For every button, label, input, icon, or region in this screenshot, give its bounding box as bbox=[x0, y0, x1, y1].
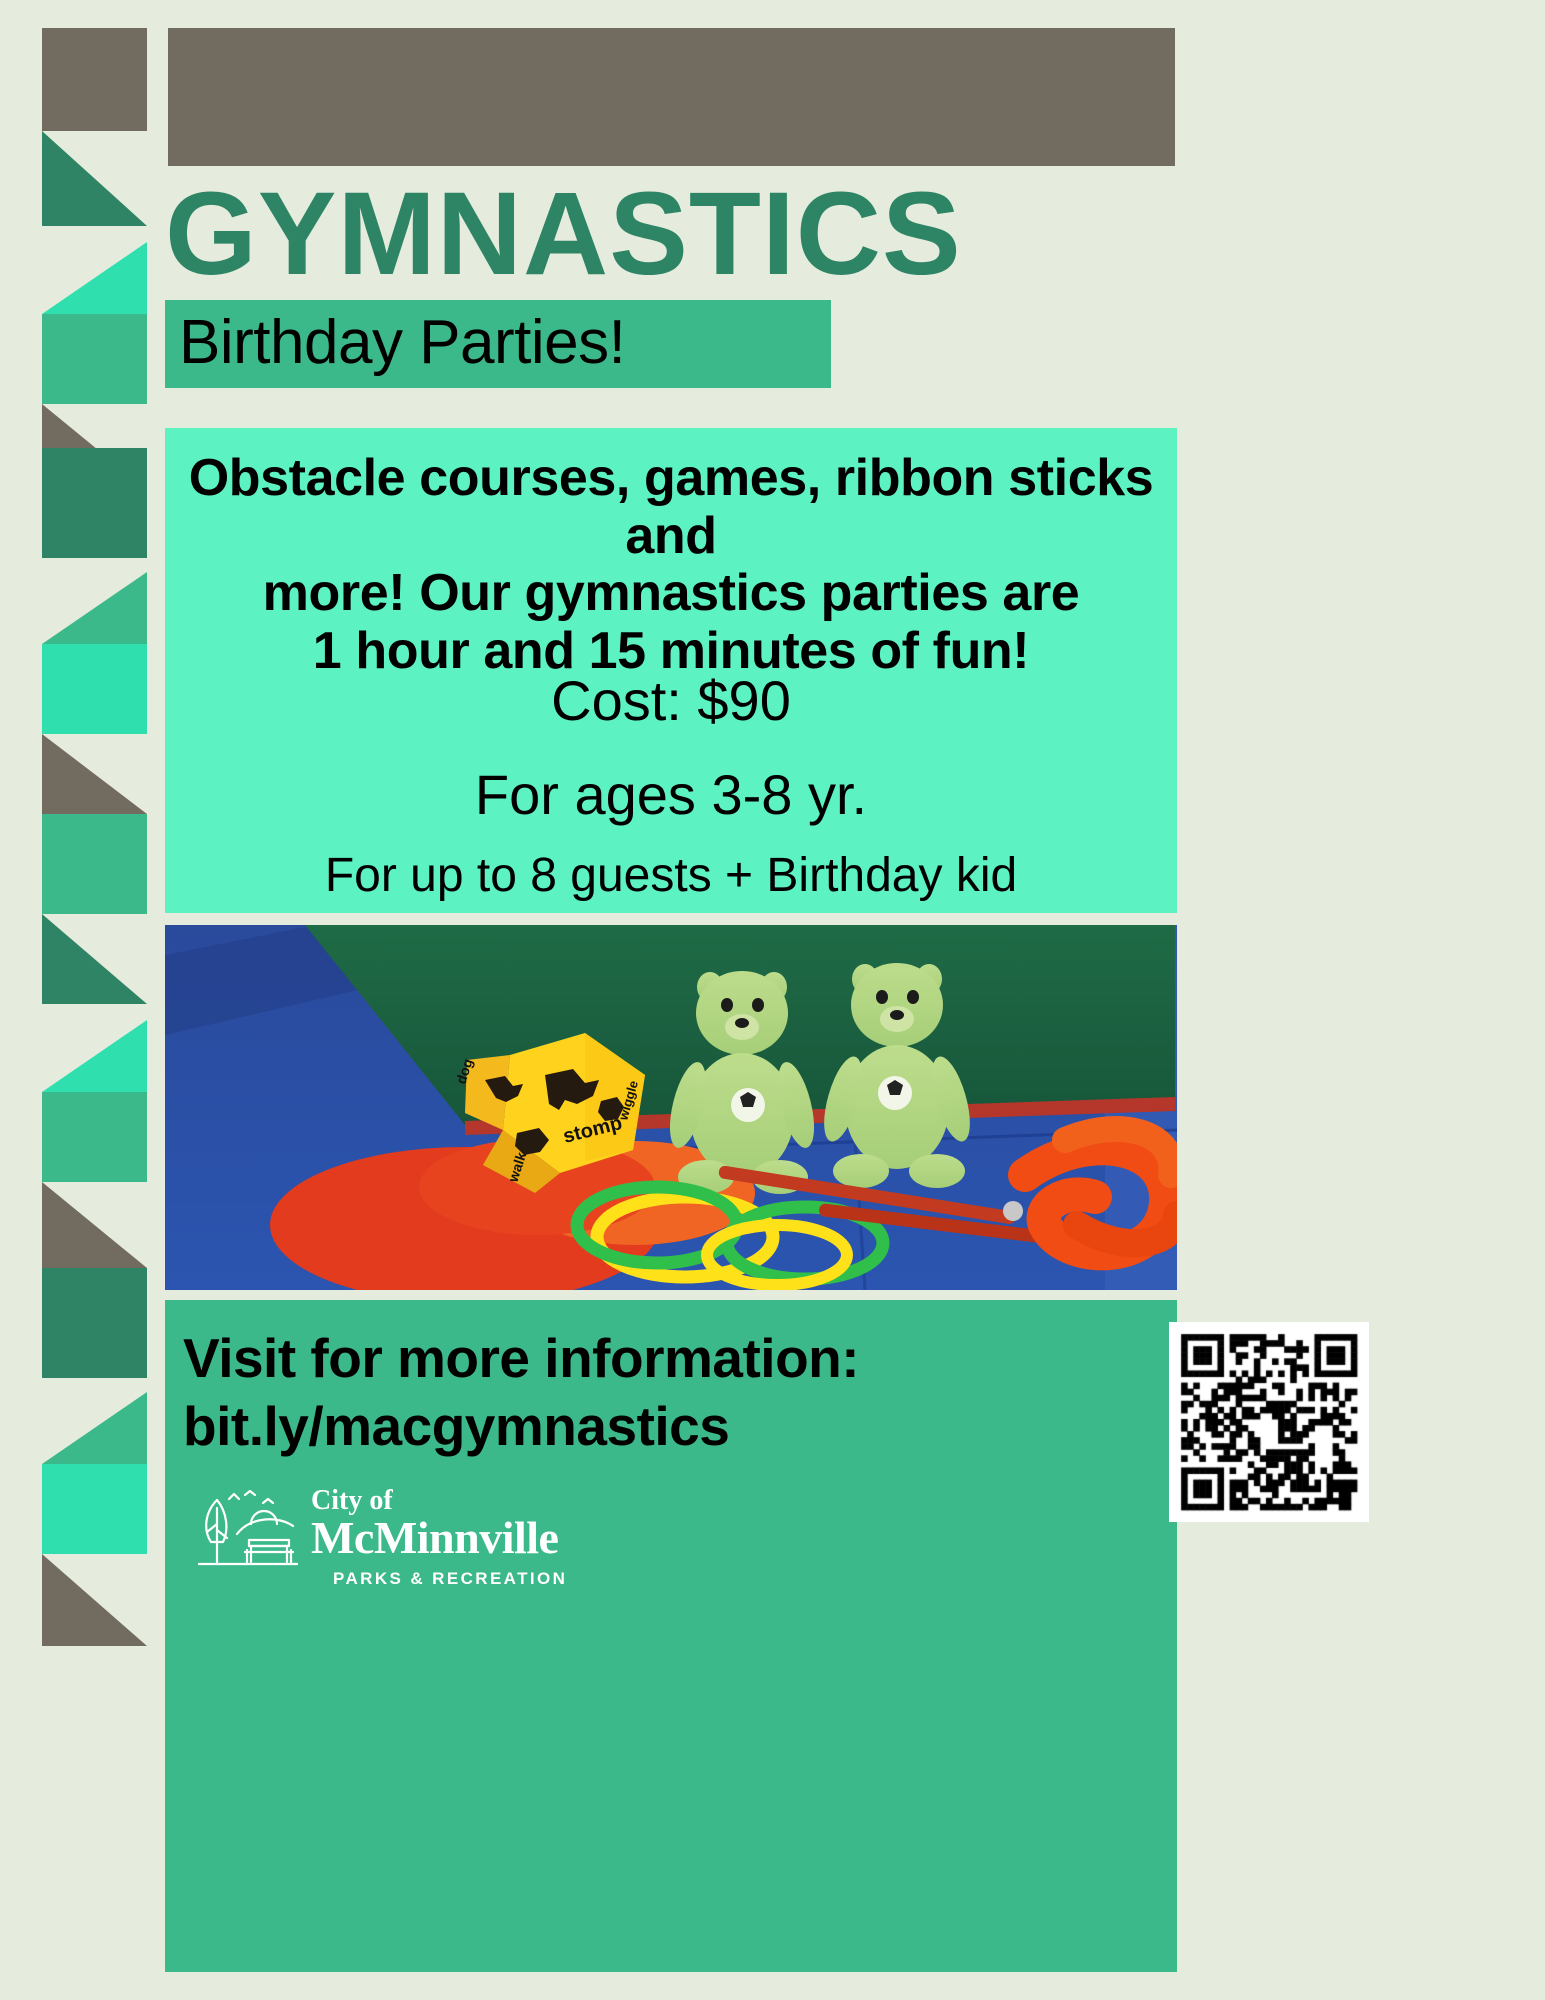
logo-department: PARKS & RECREATION bbox=[333, 1569, 651, 1589]
chevron-cell bbox=[42, 314, 147, 404]
chevron-cell bbox=[42, 734, 147, 814]
top-accent-bar bbox=[168, 28, 1175, 166]
chevron-cell bbox=[42, 242, 147, 314]
chevron-cell bbox=[42, 28, 147, 131]
footer-band: Visit for more information: bit.ly/macgy… bbox=[165, 1300, 1177, 1972]
cost-text: Cost: $90 bbox=[165, 668, 1177, 733]
description-line: more! Our gymnastics parties are bbox=[173, 565, 1169, 623]
chevron-cell bbox=[42, 1092, 147, 1182]
footer-url[interactable]: bit.ly/macgymnastics bbox=[183, 1396, 729, 1458]
flyer-poster: GYMNASTICS Birthday Parties! Obstacle co… bbox=[0, 0, 1545, 2000]
decorative-chevron-strip bbox=[42, 0, 147, 2000]
guests-text: For up to 8 guests + Birthday kid bbox=[165, 848, 1177, 903]
chevron-cell bbox=[42, 1554, 147, 1646]
chevron-cell bbox=[42, 1392, 147, 1464]
chevron-cell bbox=[42, 448, 147, 558]
description-text: Obstacle courses, games, ribbon sticks a… bbox=[173, 450, 1169, 681]
chevron-cell bbox=[42, 914, 147, 1004]
chevron-cell bbox=[42, 1268, 147, 1378]
ages-text: For ages 3-8 yr. bbox=[165, 762, 1177, 827]
logo-city-name: McMinnville bbox=[311, 1515, 651, 1560]
chevron-cell bbox=[42, 1020, 147, 1092]
logo-wordmark: City of McMinnville PARKS & RECREATION bbox=[311, 1488, 651, 1589]
chevron-cell bbox=[42, 572, 147, 644]
qr-code-icon[interactable] bbox=[1169, 1322, 1369, 1522]
photo-illustration: stomp dog walk wiggle bbox=[165, 925, 1177, 1290]
chevron-cell bbox=[42, 131, 147, 226]
chevron-cell bbox=[42, 1464, 147, 1554]
visit-label: Visit for more information: bbox=[183, 1328, 859, 1390]
details-panel: Obstacle courses, games, ribbon sticks a… bbox=[165, 428, 1177, 913]
chevron-cell bbox=[42, 644, 147, 734]
city-logo: City of McMinnville PARKS & RECREATION bbox=[193, 1488, 653, 1608]
chevron-cell bbox=[42, 814, 147, 914]
page-title: GYMNASTICS bbox=[165, 174, 1175, 294]
party-props-photo: stomp dog walk wiggle bbox=[165, 925, 1177, 1290]
logo-city-of: City of bbox=[311, 1488, 651, 1515]
subtitle-band: Birthday Parties! bbox=[165, 300, 831, 388]
park-tree-bench-icon bbox=[193, 1490, 303, 1578]
subtitle-text: Birthday Parties! bbox=[179, 307, 625, 378]
chevron-cell bbox=[42, 1182, 147, 1268]
description-line: Obstacle courses, games, ribbon sticks a… bbox=[173, 450, 1169, 565]
